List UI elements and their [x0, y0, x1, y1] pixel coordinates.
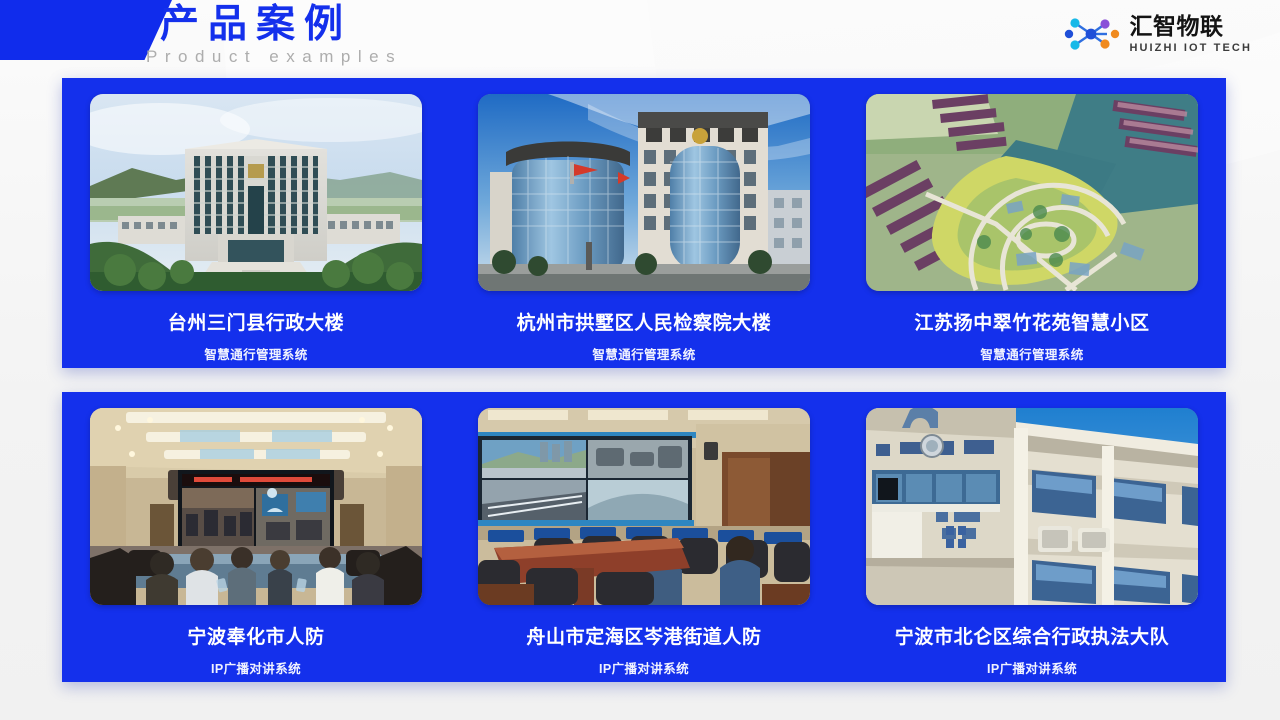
logo-name-en: HUIZHI IOT TECH — [1129, 43, 1252, 54]
case-title: 宁波奉化市人防 — [187, 622, 324, 649]
case-subtitle: 智慧通行管理系统 — [204, 344, 307, 363]
case-card[interactable]: 台州三门县行政大楼 智慧通行管理系统 — [90, 94, 422, 368]
case-card[interactable]: 杭州市拱墅区人民检察院大楼 智慧通行管理系统 — [478, 94, 810, 368]
case-subtitle: 智慧通行管理系统 — [980, 344, 1083, 363]
taizhou-sanmen-administrative-building-photo — [90, 94, 422, 291]
case-title: 台州三门县行政大楼 — [168, 308, 344, 335]
case-subtitle: IP广播对讲系统 — [599, 658, 689, 677]
page-title: 产品案例 — [160, 2, 352, 48]
hangzhou-gongshu-procuratorate-building-photo — [478, 94, 810, 291]
brand-logo[interactable]: 汇智物联 HUIZHI IOT TECH — [1063, 14, 1252, 54]
case-card[interactable]: 江苏扬中翠竹花苑智慧小区 智慧通行管理系统 — [866, 94, 1198, 368]
ningbo-beilun-law-enforcement-building-photo — [866, 408, 1198, 605]
case-title: 江苏扬中翠竹花苑智慧小区 — [914, 308, 1149, 335]
logo-name-cn: 汇智物联 — [1129, 15, 1252, 38]
case-card[interactable]: 宁波奉化市人防 IP广播对讲系统 — [90, 408, 422, 682]
jiangsu-yangzhong-cuizhu-huayuan-community-photo — [866, 94, 1198, 291]
case-panel-top: 台州三门县行政大楼 智慧通行管理系统 — [62, 78, 1226, 368]
case-card[interactable]: 舟山市定海区岑港街道人防 IP广播对讲系统 — [478, 408, 810, 682]
case-subtitle: IP广播对讲系统 — [211, 658, 301, 677]
case-title: 舟山市定海区岑港街道人防 — [526, 622, 761, 649]
case-title: 杭州市拱墅区人民检察院大楼 — [517, 308, 772, 335]
ningbo-fenghua-civil-defense-meeting-room-photo — [90, 408, 422, 605]
molecule-network-icon — [1063, 14, 1121, 54]
case-card[interactable]: 宁波市北仑区综合行政执法大队 IP广播对讲系统 — [866, 408, 1198, 682]
page-subtitle: Product examples — [146, 47, 402, 67]
zhoushan-dinghai-cengang-civil-defense-control-room-photo — [478, 408, 810, 605]
case-title: 宁波市北仑区综合行政执法大队 — [895, 622, 1169, 649]
case-panel-bottom: 宁波奉化市人防 IP广播对讲系统 — [62, 392, 1226, 682]
case-subtitle: 智慧通行管理系统 — [592, 344, 695, 363]
case-subtitle: IP广播对讲系统 — [987, 658, 1077, 677]
slide-header: 产品案例 Product examples 汇智物联 H — [0, 0, 1280, 78]
